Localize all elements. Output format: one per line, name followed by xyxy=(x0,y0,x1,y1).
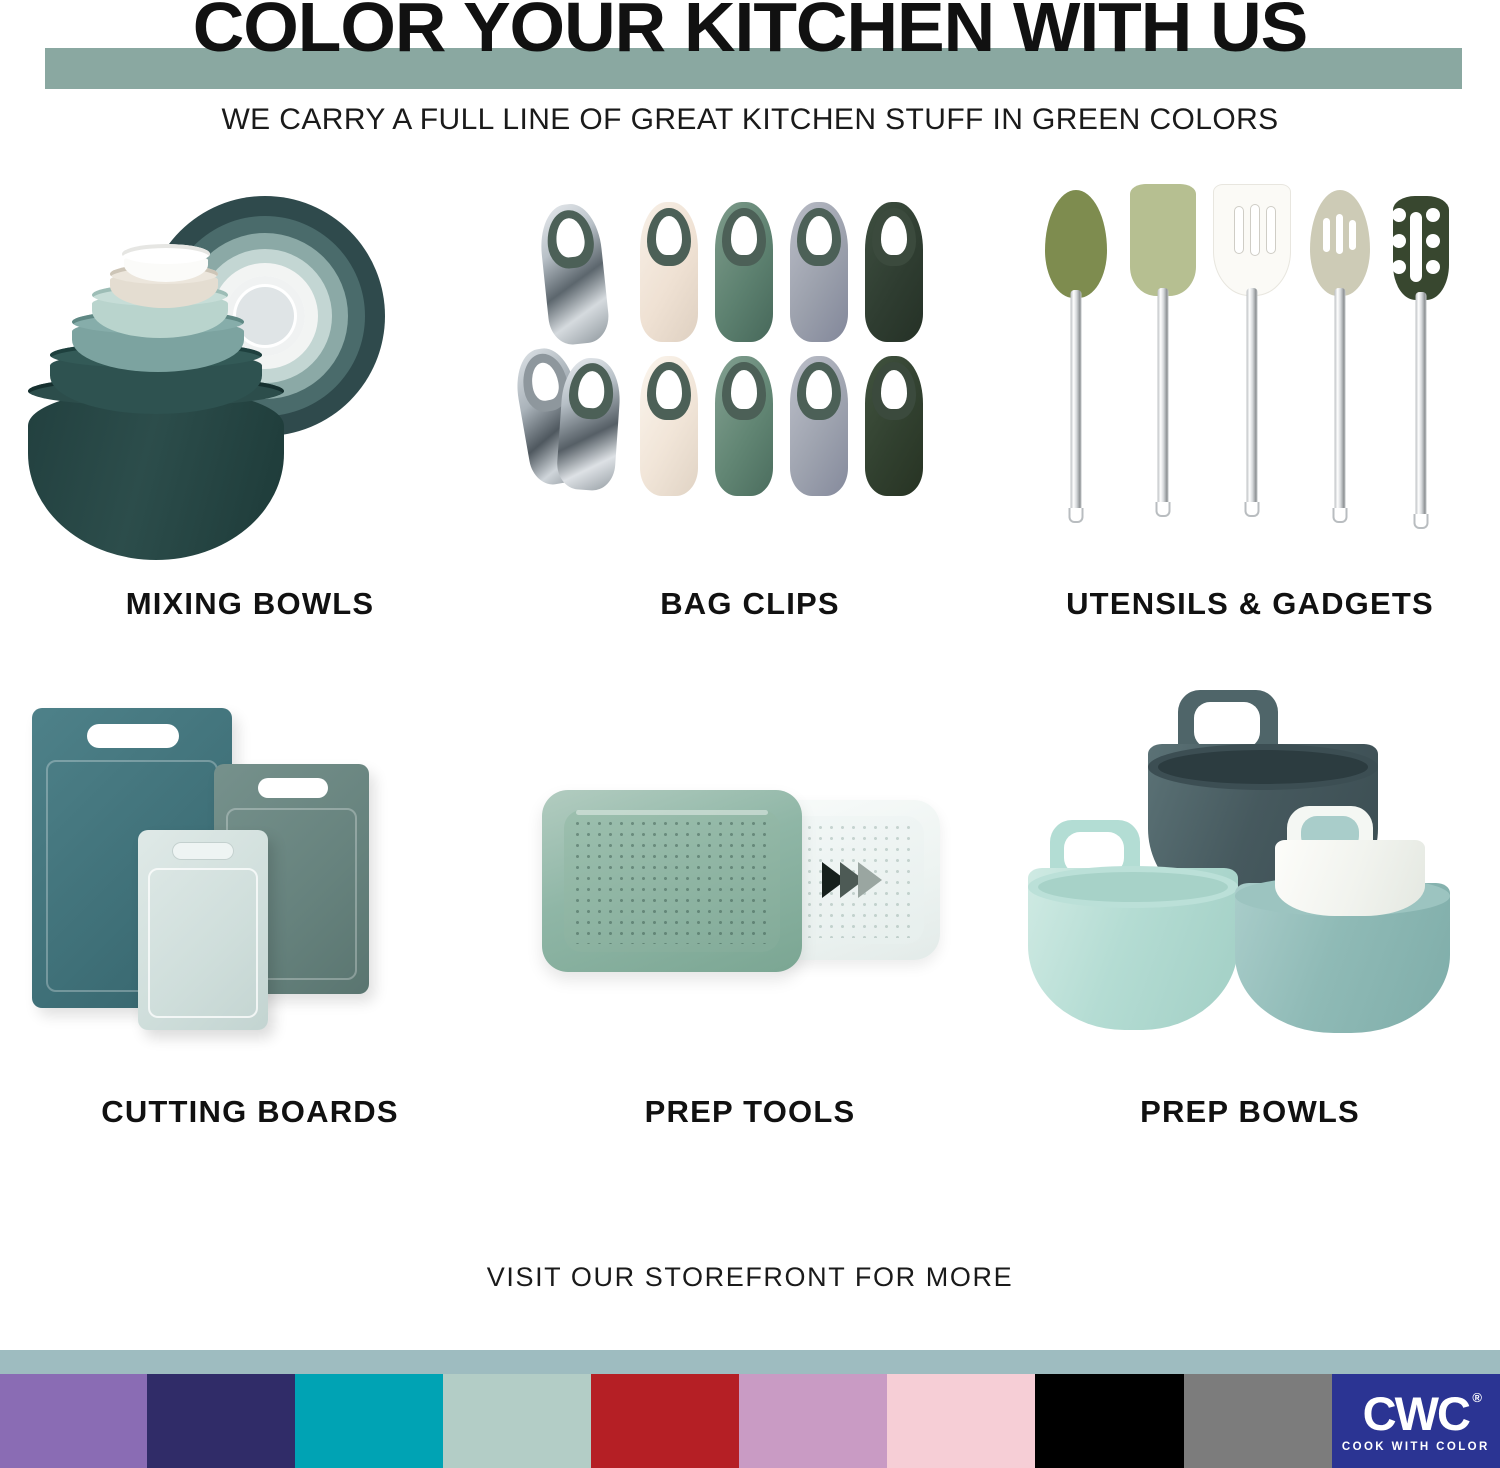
swatch-purple xyxy=(0,1374,147,1468)
prep-bowl-mint xyxy=(1028,820,1238,1030)
product-grid: MIXING BOWLS xyxy=(0,180,1500,1180)
swatch-sage xyxy=(443,1374,591,1468)
utensil-spatula xyxy=(1125,184,1201,540)
color-swatch-strip: CWC® COOK WITH COLOR xyxy=(0,1374,1500,1468)
product-cell-cutting-boards[interactable]: CUTTING BOARDS xyxy=(0,680,500,1180)
clip-marble-bottom-b xyxy=(555,356,622,492)
cutting-board-small xyxy=(138,830,268,1030)
swatch-navy xyxy=(147,1374,295,1468)
utensil-pasta-server xyxy=(1388,196,1454,540)
product-label: PREP BOWLS xyxy=(1140,1094,1360,1130)
utensil-slotted-turner xyxy=(1210,184,1294,540)
storefront-note: VISIT OUR STOREFRONT FOR MORE xyxy=(0,1262,1500,1293)
product-cell-prep-tools[interactable]: PREP TOOLS xyxy=(500,680,1000,1180)
product-cell-mixing-bowls[interactable]: MIXING BOWLS xyxy=(0,180,500,680)
clip-marble-top xyxy=(537,201,611,347)
swatch-orchid xyxy=(739,1374,887,1468)
swatch-teal xyxy=(295,1374,443,1468)
colander-main xyxy=(542,790,802,972)
prep-bowl-white-insert xyxy=(1275,806,1425,916)
product-label: UTENSILS & GADGETS xyxy=(1066,586,1434,622)
product-label: PREP TOOLS xyxy=(645,1094,856,1130)
mixing-bowls-photo xyxy=(20,180,480,580)
product-label: CUTTING BOARDS xyxy=(101,1094,399,1130)
registered-trademark-icon: ® xyxy=(1472,1391,1482,1404)
brand-logo[interactable]: CWC® COOK WITH COLOR xyxy=(1332,1374,1500,1468)
prep-bowls-photo xyxy=(1020,680,1480,1080)
product-label: MIXING BOWLS xyxy=(126,586,375,622)
logo-mark: CWC® xyxy=(1363,1390,1469,1437)
product-cell-prep-bowls[interactable]: PREP BOWLS xyxy=(1000,680,1500,1180)
utensils-gadgets-photo xyxy=(1020,180,1480,580)
page-title: COLOR YOUR KITCHEN WITH US xyxy=(0,0,1500,62)
page-subtitle: WE CARRY A FULL LINE OF GREAT KITCHEN ST… xyxy=(0,103,1500,137)
utensil-slotted-spoon xyxy=(1305,190,1375,540)
swatch-gray xyxy=(1184,1374,1332,1468)
clip-green-bottom xyxy=(715,356,773,496)
clip-cream-bottom xyxy=(640,356,698,496)
cutting-boards-photo xyxy=(20,680,480,1080)
swatch-black xyxy=(1035,1374,1183,1468)
prep-tools-photo xyxy=(520,680,980,1080)
swatch-blush-pink xyxy=(887,1374,1035,1468)
product-cell-bag-clips[interactable]: BAG CLIPS xyxy=(500,180,1000,680)
arrow-icon-3 xyxy=(858,862,882,898)
swatch-red xyxy=(591,1374,739,1468)
bag-clips-photo xyxy=(520,180,980,580)
product-cell-utensils-gadgets[interactable]: UTENSILS & GADGETS xyxy=(1000,180,1500,680)
clip-cream-top xyxy=(640,202,698,342)
lid-inner xyxy=(236,287,294,345)
clip-green-top xyxy=(715,202,773,342)
product-label: BAG CLIPS xyxy=(660,586,840,622)
clip-darkgreen-top xyxy=(865,202,923,342)
bowl-smallest-rim xyxy=(122,244,210,264)
page-header: COLOR YOUR KITCHEN WITH US WE CARRY A FU… xyxy=(0,0,1500,150)
clip-darkgreen-bottom xyxy=(865,356,923,496)
utensil-spoon xyxy=(1040,190,1112,540)
clip-gray-bottom xyxy=(790,356,848,496)
clip-gray-top xyxy=(790,202,848,342)
logo-tagline: COOK WITH COLOR xyxy=(1342,1441,1490,1453)
